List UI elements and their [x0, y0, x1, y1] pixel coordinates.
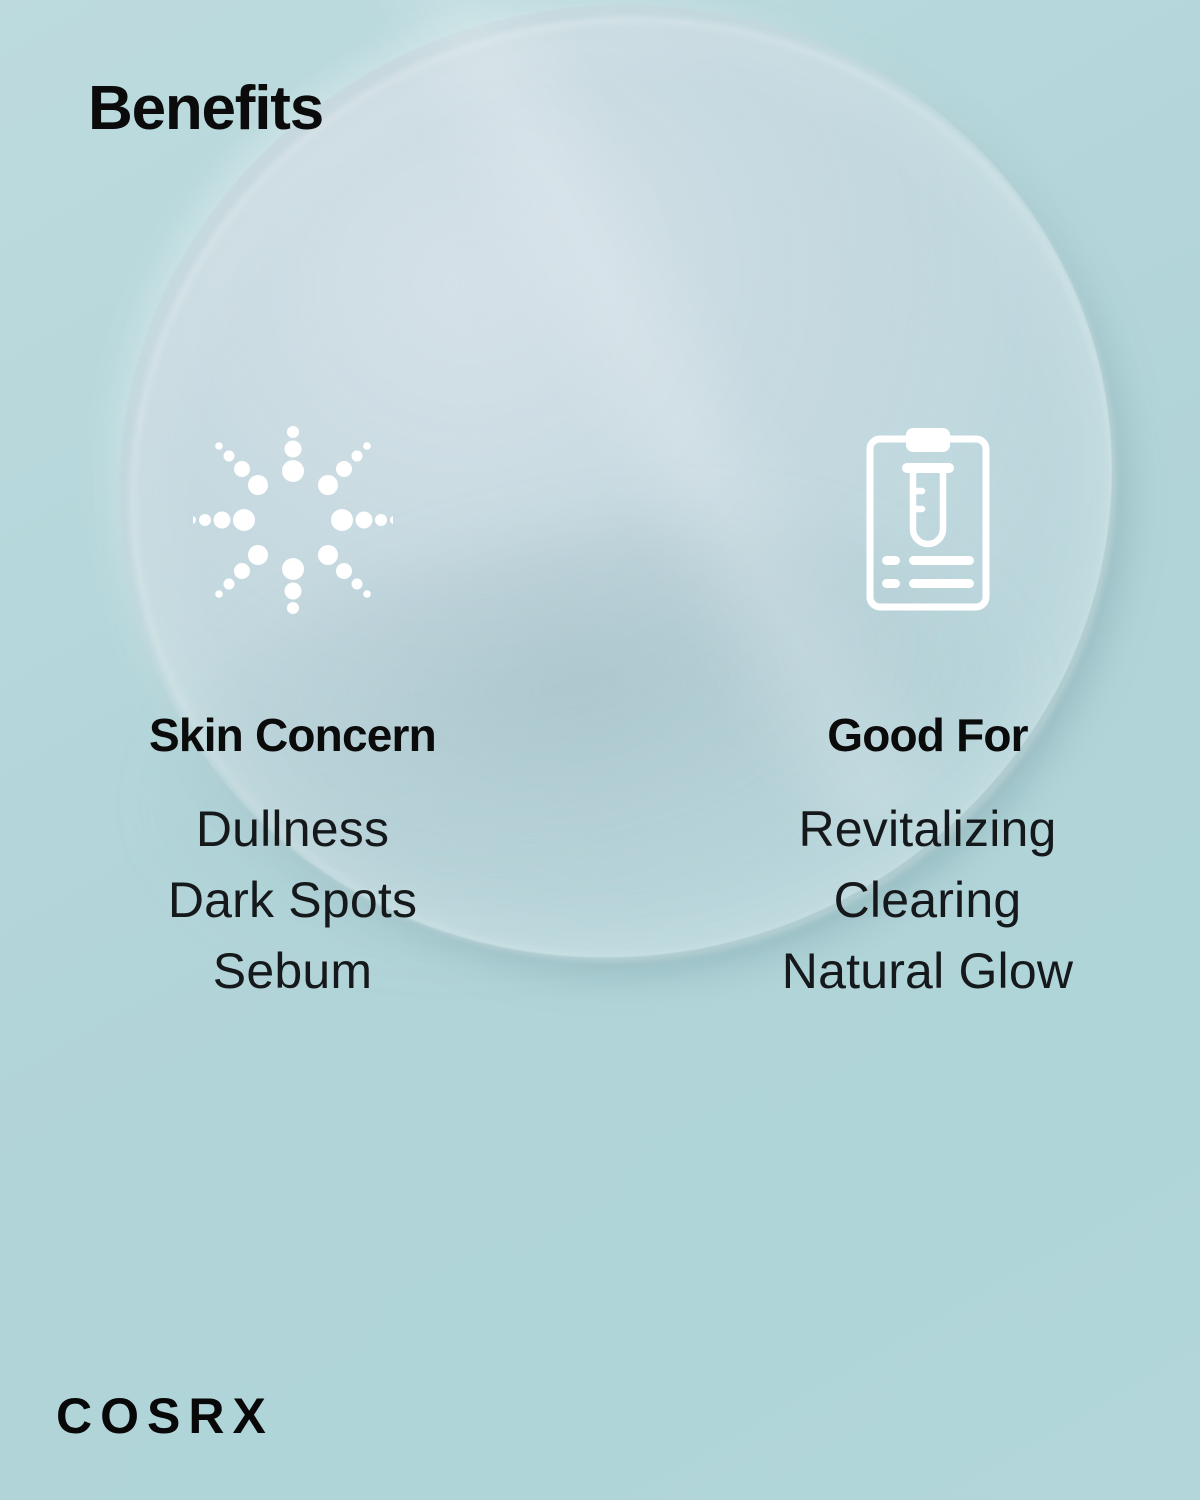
column-heading-skin-concern: Skin Concern: [149, 712, 436, 758]
good-for-list: Revitalizing Clearing Natural Glow: [782, 794, 1073, 1007]
list-item: Dullness: [168, 794, 417, 865]
list-item: Dark Spots: [168, 865, 417, 936]
benefits-columns: Skin Concern Dullness Dark Spots Sebum: [0, 420, 1200, 1007]
page-title: Benefits: [88, 78, 323, 140]
list-item: Sebum: [168, 936, 417, 1007]
column-skin-concern: Skin Concern Dullness Dark Spots Sebum: [0, 420, 565, 1007]
list-item: Natural Glow: [782, 936, 1073, 1007]
clipboard-test-tube-icon: [833, 420, 1023, 620]
brand-logo-cosrx: COSRX: [56, 1391, 274, 1441]
list-item: Clearing: [782, 865, 1073, 936]
content-layer: Benefits: [0, 0, 1200, 1500]
column-good-for: Good For Revitalizing Clearing Natural G…: [565, 420, 1200, 1007]
column-heading-good-for: Good For: [827, 712, 1028, 758]
skin-concern-list: Dullness Dark Spots Sebum: [168, 794, 417, 1007]
sparkle-star-icon: [193, 420, 393, 620]
benefits-infographic: Benefits: [0, 0, 1200, 1500]
list-item: Revitalizing: [782, 794, 1073, 865]
